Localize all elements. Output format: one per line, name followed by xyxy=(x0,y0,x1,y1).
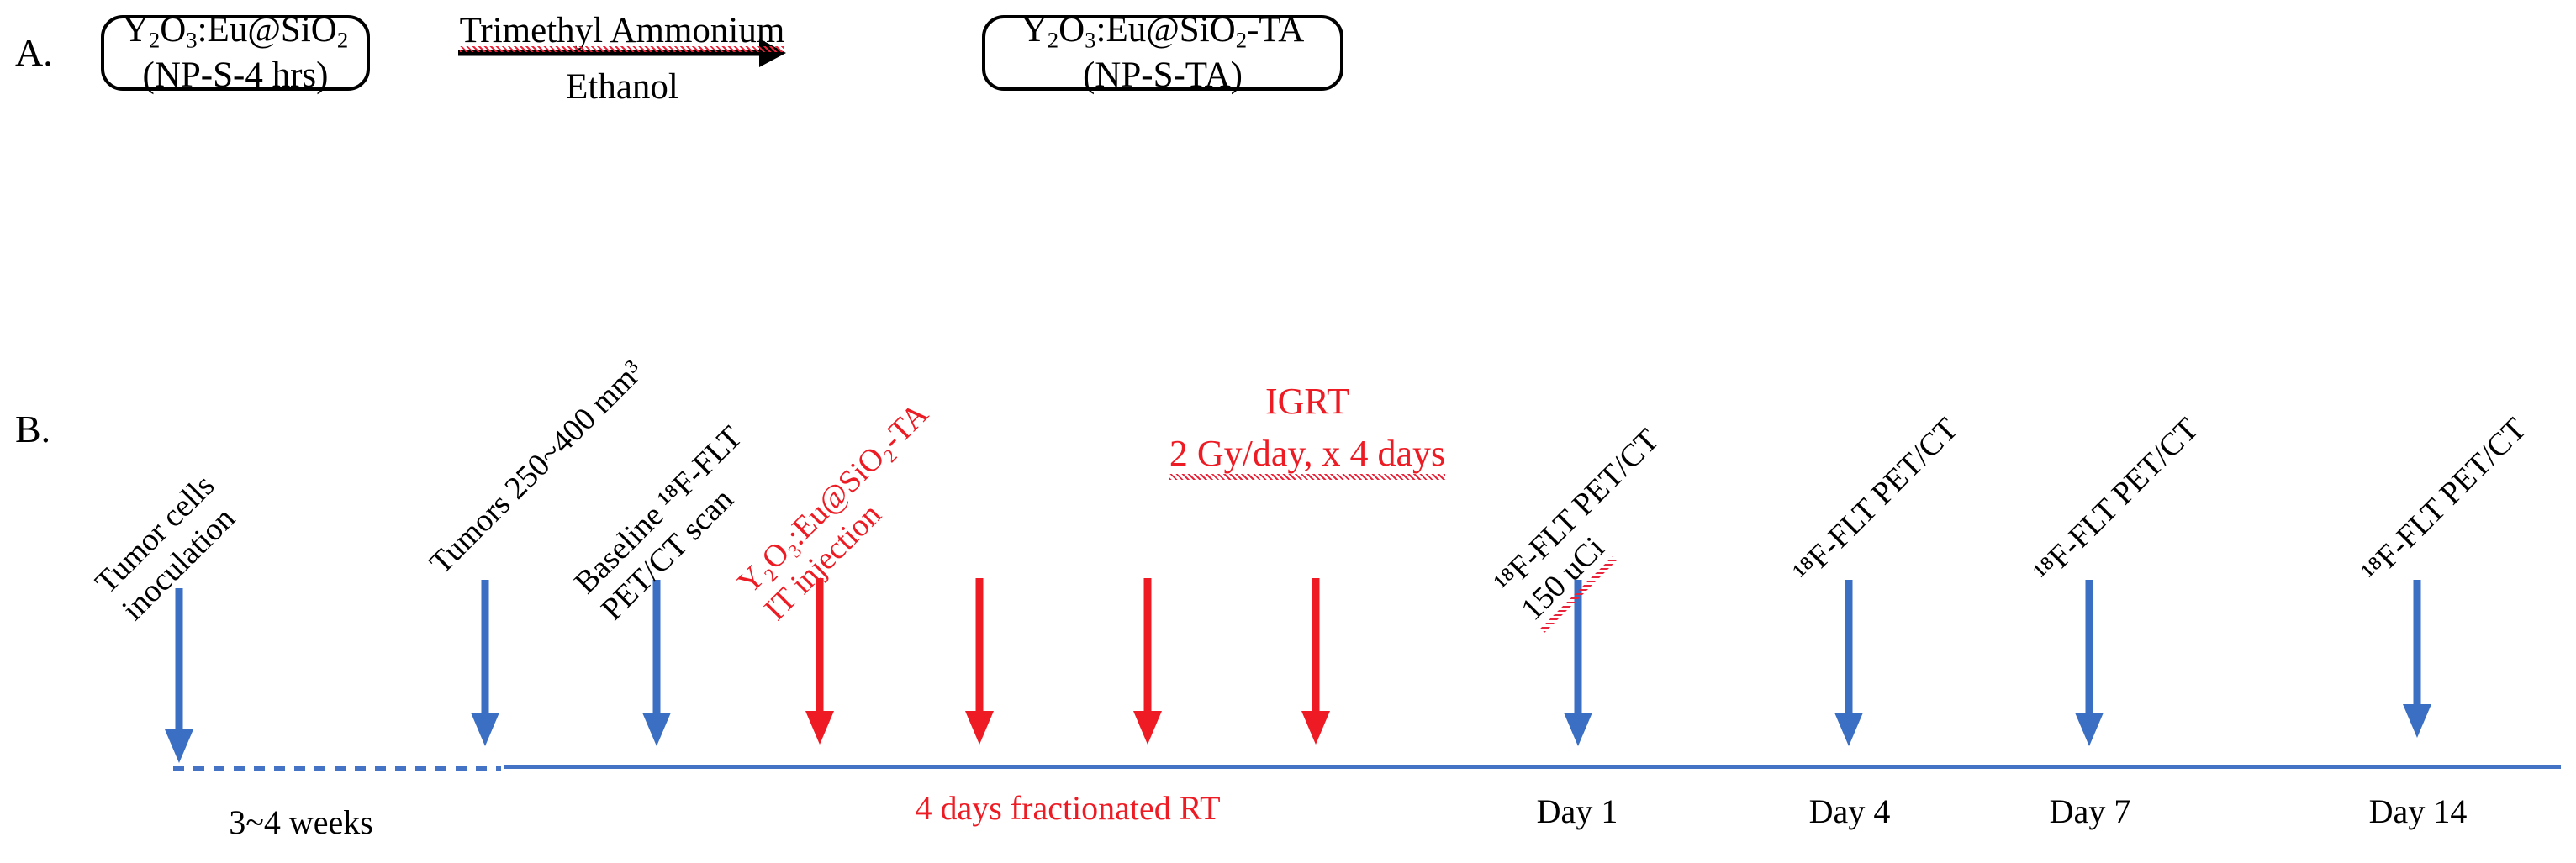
arrow-head xyxy=(1301,711,1330,745)
event-arrow-pet-day4 xyxy=(1834,580,1863,746)
event-label-pet-day14: ¹⁸F-FLT PET/CT xyxy=(2354,411,2534,591)
arrow-shaft xyxy=(1144,578,1152,711)
label-line: ¹⁸F-FLT PET/CT xyxy=(1786,411,1966,591)
event-label-np-injection: Y₂O₃:Eu@SiO₂-TA IT injection xyxy=(731,396,963,629)
arrow-shaft xyxy=(482,580,489,713)
event-arrow-np-injection xyxy=(805,578,834,745)
reactant-box: Y2O3:Eu@SiO2 (NP-S-4 hrs) xyxy=(101,15,370,91)
panel-a-letter: A. xyxy=(15,34,53,72)
arrow-head xyxy=(805,711,834,745)
day-label-1: Day 1 xyxy=(1460,792,1695,832)
day-label-14: Day 14 xyxy=(2300,792,2536,832)
product-box: Y2O3:Eu@SiO2-TA (NP-S-TA) xyxy=(982,15,1343,91)
arrow-shaft xyxy=(816,578,824,711)
arrow-head xyxy=(1564,713,1592,746)
duration-label-weeks: 3~4 weeks xyxy=(141,802,461,843)
arrow-head xyxy=(2403,704,2431,738)
timeline-dashed-segment xyxy=(173,766,501,771)
igrt-title: IGRT xyxy=(1085,380,1530,424)
figure-canvas: A. Y2O3:Eu@SiO2 (NP-S-4 hrs) Trimethyl A… xyxy=(0,0,2576,863)
arrow-head xyxy=(1133,711,1162,745)
reactant-formula: Y2O3:Eu@SiO2 xyxy=(123,8,348,54)
reaction-reagent-label: Trimethyl Ammonium xyxy=(458,13,786,49)
event-arrow-rt-fraction-3 xyxy=(1133,578,1162,745)
arrow-head xyxy=(165,729,193,763)
arrow-shaft xyxy=(653,580,661,713)
day-label-4: Day 4 xyxy=(1732,792,1967,832)
arrow-head xyxy=(642,713,671,746)
igrt-dose: 2 Gy/day, x 4 days xyxy=(1085,432,1530,476)
arrow-shaft xyxy=(976,578,984,711)
event-arrow-tumor-size xyxy=(471,580,499,746)
event-label-pet-day7: ¹⁸F-FLT PET/CT xyxy=(2026,411,2206,591)
reactant-code: (NP-S-4 hrs) xyxy=(143,54,329,97)
arrow-head xyxy=(1834,713,1863,746)
igrt-dose-text: 2 Gy/day, x 4 days xyxy=(1169,432,1445,476)
event-label-pet-day4: ¹⁸F-FLT PET/CT xyxy=(1786,411,1966,591)
rt-span-label: 4 days fractionated RT xyxy=(748,788,1387,829)
arrow-head xyxy=(471,713,499,746)
arrow-shaft xyxy=(176,588,183,729)
day-label-7: Day 7 xyxy=(1972,792,2208,832)
event-arrow-pet-day7 xyxy=(2075,580,2104,746)
reagent-misspelled-word: Trimethyl Ammonium xyxy=(460,13,785,49)
arrow-shaft xyxy=(1845,580,1853,713)
arrow-shaft xyxy=(2414,580,2421,704)
event-arrow-rt-fraction-4 xyxy=(1301,578,1330,745)
arrow-shaft xyxy=(1312,578,1320,711)
arrow-shaft xyxy=(2086,580,2093,713)
event-arrow-pet-day14 xyxy=(2403,580,2431,738)
event-label-baseline-scan: Baseline ¹⁸F-FLT PET/CT scan xyxy=(567,418,777,628)
event-arrow-tumor-inoculation xyxy=(165,588,193,763)
event-arrow-rt-fraction-2 xyxy=(965,578,994,745)
label-line: ¹⁸F-FLT PET/CT xyxy=(2354,411,2534,591)
arrow-head xyxy=(965,711,994,745)
product-formula: Y2O3:Eu@SiO2-TA xyxy=(1021,8,1305,54)
product-code: (NP-S-TA) xyxy=(1083,54,1243,97)
arrow-head xyxy=(2075,713,2104,746)
label-line: ¹⁸F-FLT PET/CT xyxy=(2026,411,2206,591)
timeline-solid-segment xyxy=(504,765,2561,769)
reaction-solvent-label: Ethanol xyxy=(458,69,786,105)
panel-b-letter: B. xyxy=(15,410,50,449)
event-arrow-baseline-scan xyxy=(642,580,671,746)
